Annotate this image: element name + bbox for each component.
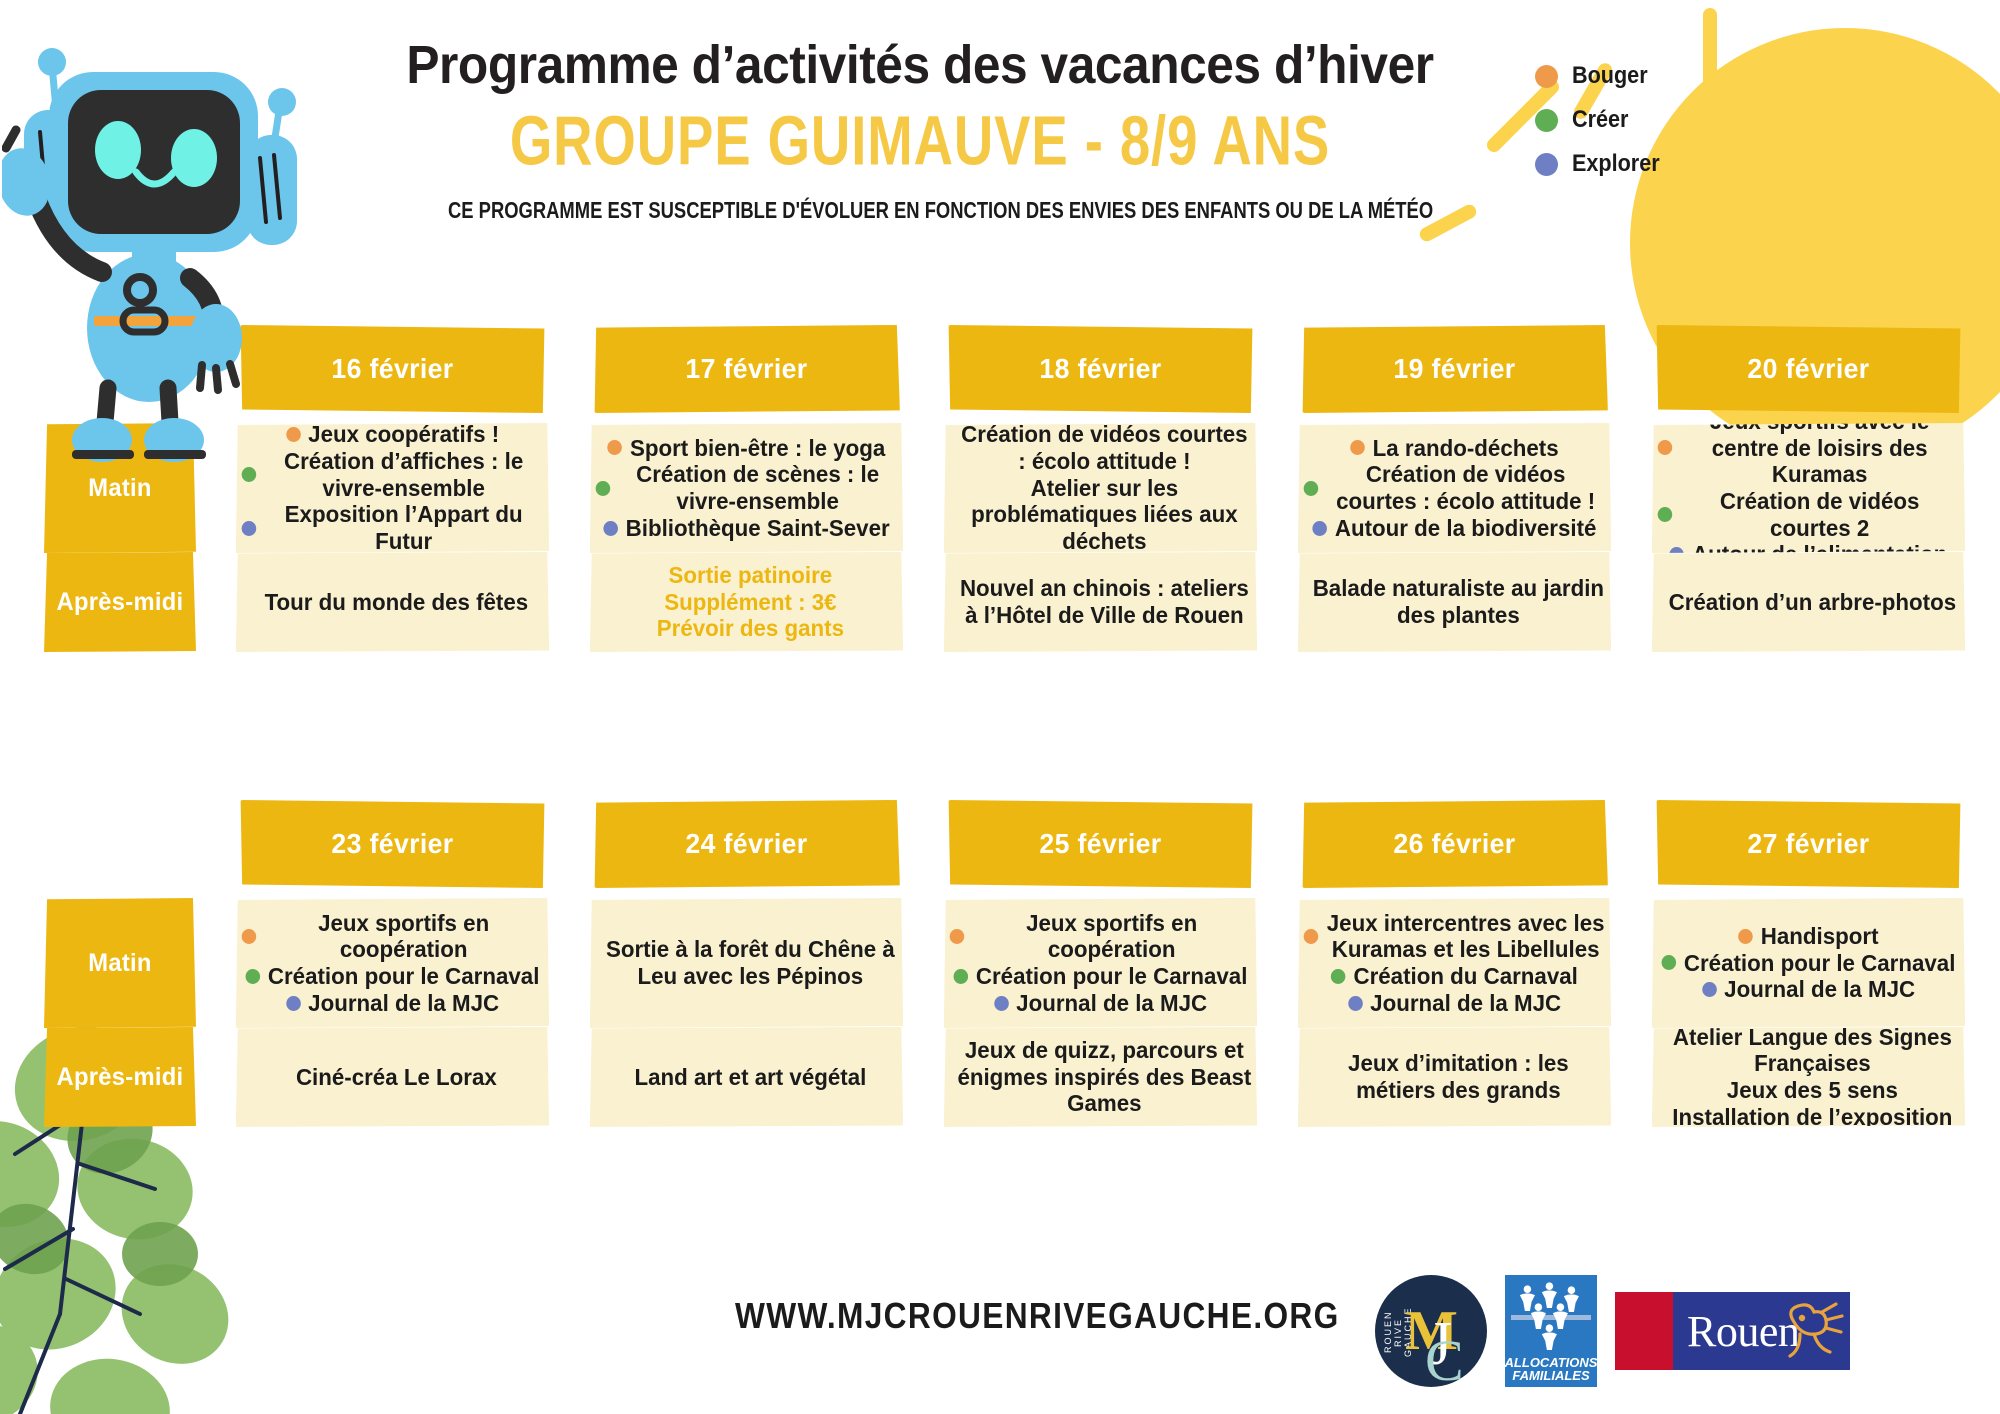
- schedule-cell-morning: Sortie à la forêt du Chêne à Leu avec le…: [590, 898, 903, 1028]
- activity-text: Jeux sportifs avec le centre de loisirs …: [1680, 408, 1959, 488]
- activity-text: Land art et art végétal: [634, 1064, 866, 1091]
- activity-bullet-explorer-icon: [286, 996, 301, 1011]
- date-header-chip: 17 février: [593, 325, 900, 413]
- activity-item: Journal de la MJC: [1658, 976, 1960, 1003]
- schedule-cell-morning: La rando-déchetsCréation de vidéos court…: [1298, 423, 1611, 553]
- activity-item: Création de vidéos courtes : écolo attit…: [1304, 461, 1606, 514]
- activity-item: Handisport: [1658, 923, 1960, 950]
- activity-text: Ciné-créa Le Lorax: [296, 1064, 497, 1091]
- rouen-logo-red-bar: [1615, 1292, 1673, 1370]
- schedule-cell-morning: Jeux sportifs avec le centre de loisirs …: [1652, 423, 1965, 553]
- activity-bullet-creer-icon: [1304, 481, 1319, 496]
- activity-bullet-bouger-icon: [950, 929, 965, 944]
- mjc-logo: ROUEN RIVE GAUCHE M J C: [1375, 1275, 1487, 1387]
- activity-text: Atelier sur les problématiques liées aux…: [957, 475, 1251, 555]
- legend-dot-icon: [1535, 109, 1558, 132]
- schedule-cell-afternoon: Jeux d’imitation : les métiers des grand…: [1298, 1027, 1611, 1127]
- activity-text: Exposition l’Appart du Futur: [264, 501, 543, 554]
- activity-text: Tour du monde des fêtes: [265, 589, 529, 616]
- activity-item: Journal de la MJC: [950, 990, 1252, 1017]
- activity-item: Création pour le Carnaval: [242, 963, 544, 990]
- activity-text: Création pour le Carnaval: [1684, 950, 1956, 977]
- activity-text: Journal de la MJC: [1724, 976, 1915, 1003]
- activity-item: Création pour le Carnaval: [950, 963, 1252, 990]
- activity-text: Journal de la MJC: [1370, 990, 1561, 1017]
- activity-text: Création pour le Carnaval: [976, 963, 1248, 990]
- activity-item: Balade naturaliste au jardin des plantes: [1304, 575, 1606, 628]
- schedule-week-2: 23 février24 février25 février26 février…: [40, 800, 1970, 1116]
- schedule-cell-morning: Sport bien-être : le yogaCréation de scè…: [590, 423, 903, 553]
- activity-bullet-explorer-icon: [242, 521, 257, 536]
- activity-item: Land art et art végétal: [596, 1064, 898, 1091]
- schedule-cell-morning: Jeux intercentres avec les Kuramas et le…: [1298, 898, 1611, 1028]
- sun-ray-icon: [1703, 8, 1717, 104]
- page-title: Programme d’activités des vacances d’hiv…: [377, 34, 1463, 96]
- legend-item-explorer: Explorer: [1535, 150, 1669, 178]
- activity-bullet-explorer-icon: [603, 521, 618, 536]
- activity-bullet-explorer-icon: [1702, 982, 1717, 997]
- schedule-cell-afternoon: Nouvel an chinois : ateliers à l’Hôtel d…: [944, 552, 1257, 652]
- activity-text: Installation de l’exposition: [1672, 1104, 1952, 1131]
- activity-text: Jeux sportifs en coopération: [264, 910, 543, 963]
- activity-item: Tour du monde des fêtes: [242, 589, 544, 616]
- schedule-cell-morning: Jeux sportifs en coopérationCréation pou…: [236, 898, 549, 1028]
- activity-item: Supplément : 3€: [596, 589, 898, 616]
- activity-text: Jeux d’imitation : les métiers des grand…: [1311, 1050, 1605, 1103]
- activity-item: Création de vidéos courtes : écolo attit…: [950, 421, 1252, 474]
- grid-corner-spacer: [40, 800, 200, 888]
- activity-item: Atelier sur les problématiques liées aux…: [950, 475, 1252, 555]
- activity-text: Journal de la MJC: [308, 990, 499, 1017]
- schedule-cell-afternoon: Atelier Langue des Signes FrançaisesJeux…: [1652, 1027, 1965, 1127]
- date-header-chip: 27 février: [1655, 800, 1962, 888]
- activity-text: Jeux intercentres avec les Kuramas et le…: [1326, 910, 1605, 963]
- page-subtitle: GROUPE GUIMAUVE - 8/9 ANS: [401, 102, 1439, 182]
- legend-item-label: Créer: [1572, 106, 1628, 134]
- schedule-cell-morning: Création de vidéos courtes : écolo attit…: [944, 423, 1257, 553]
- row-label-morning: Matin: [44, 898, 196, 1028]
- activity-item: Sortie à la forêt du Chêne à Leu avec le…: [596, 936, 898, 989]
- activity-bullet-explorer-icon: [994, 996, 1009, 1011]
- schedule-cell-morning: Jeux sportifs en coopérationCréation pou…: [944, 898, 1257, 1028]
- date-header-chip: 19 février: [1301, 325, 1608, 413]
- activity-item: Jeux des 5 sens: [1658, 1077, 1960, 1104]
- schedule-cell-afternoon: Land art et art végétal: [590, 1027, 903, 1127]
- activity-item: Jeux intercentres avec les Kuramas et le…: [1304, 910, 1606, 963]
- legend-item-label: Bouger: [1572, 62, 1648, 90]
- caf-logo-line-1: ALLOCATIONS: [1505, 1356, 1598, 1370]
- activity-text: Sortie patinoire: [669, 562, 833, 589]
- activity-bullet-bouger-icon: [1304, 929, 1319, 944]
- activity-item: Création de vidéos courtes 2: [1658, 488, 1960, 541]
- schedule-cell-afternoon: Balade naturaliste au jardin des plantes: [1298, 552, 1611, 652]
- legend-dot-icon: [1535, 153, 1558, 176]
- activity-text: La rando-déchets: [1373, 435, 1559, 462]
- caf-logo-people-icon: [1505, 1281, 1597, 1351]
- activity-bullet-creer-icon: [596, 481, 611, 496]
- website-url[interactable]: WWW.MJCROUENRIVEGAUCHE.ORG: [735, 1295, 1340, 1337]
- caf-logo-line-2: FAMILIALES: [1512, 1369, 1589, 1383]
- activity-bullet-creer-icon: [1658, 507, 1673, 522]
- row-label-afternoon: Après-midi: [44, 552, 196, 652]
- date-header-chip: 18 février: [947, 325, 1254, 413]
- activity-item: Jeux d’imitation : les métiers des grand…: [1304, 1050, 1606, 1103]
- date-header-chip: 20 février: [1655, 325, 1962, 413]
- legend-item-label: Explorer: [1572, 150, 1660, 178]
- activity-text: Sortie à la forêt du Chêne à Leu avec le…: [603, 936, 897, 989]
- activity-text: Handisport: [1761, 923, 1879, 950]
- activity-bullet-explorer-icon: [1313, 521, 1328, 536]
- activity-item: Création pour le Carnaval: [1658, 950, 1960, 977]
- activity-text: Création de vidéos courtes : écolo attit…: [957, 421, 1251, 474]
- activity-text: Jeux de quizz, parcours et énigmes inspi…: [957, 1037, 1251, 1117]
- activity-bullet-creer-icon: [954, 969, 969, 984]
- activity-item: Jeux sportifs avec le centre de loisirs …: [1658, 408, 1960, 488]
- date-header-chip: 25 février: [947, 800, 1254, 888]
- activity-text: Création de vidéos courtes 2: [1680, 488, 1959, 541]
- rouen-logo-lamb-icon: [1774, 1300, 1844, 1362]
- rouen-logo: Rouen: [1615, 1292, 1850, 1370]
- legend-item-bouger: Bouger: [1535, 62, 1669, 90]
- schedule-cell-afternoon: Sortie patinoireSupplément : 3€Prévoir d…: [590, 552, 903, 652]
- activity-text: Supplément : 3€: [664, 589, 836, 616]
- activity-item: Création d’un arbre-photos: [1658, 589, 1960, 616]
- activity-bullet-explorer-icon: [1348, 996, 1363, 1011]
- date-header-chip: 24 février: [593, 800, 900, 888]
- activity-text: Nouvel an chinois : ateliers à l’Hôtel d…: [957, 575, 1251, 628]
- activity-item: Création du Carnaval: [1304, 963, 1606, 990]
- row-label-afternoon: Après-midi: [44, 1027, 196, 1127]
- poster-header: Programme d’activités des vacances d’hiv…: [330, 34, 1510, 224]
- activity-item: Jeux sportifs en coopération: [950, 910, 1252, 963]
- legend-item-créer: Créer: [1535, 106, 1669, 134]
- activity-text: Journal de la MJC: [1016, 990, 1207, 1017]
- activity-item: Journal de la MJC: [242, 990, 544, 1017]
- activity-item: Autour de la biodiversité: [1304, 515, 1606, 542]
- activity-item: Atelier Langue des Signes Françaises: [1658, 1024, 1960, 1077]
- activity-bullet-bouger-icon: [242, 929, 257, 944]
- activity-text: Création d’un arbre-photos: [1669, 589, 1957, 616]
- activity-text: Balade naturaliste au jardin des plantes: [1311, 575, 1605, 628]
- activity-item: Exposition l’Appart du Futur: [242, 501, 544, 554]
- activity-bullet-creer-icon: [246, 969, 261, 984]
- partner-logos: ROUEN RIVE GAUCHE M J C ALLOCATIONS FAMI…: [1375, 1275, 1850, 1387]
- activity-text: Autour de la biodiversité: [1335, 515, 1597, 542]
- activity-item: Journal de la MJC: [1304, 990, 1606, 1017]
- date-header-chip: 23 février: [239, 800, 546, 888]
- robot-mascot-icon: [2, 10, 302, 480]
- activity-text: Sport bien-être : le yoga: [630, 435, 885, 462]
- category-legend: BougerCréerExplorer: [1535, 62, 1669, 194]
- activity-bullet-bouger-icon: [1658, 440, 1673, 455]
- activity-bullet-bouger-icon: [608, 440, 623, 455]
- activity-item: La rando-déchets: [1304, 435, 1606, 462]
- caf-logo: ALLOCATIONS FAMILIALES: [1505, 1275, 1597, 1387]
- activity-item: Jeux de quizz, parcours et énigmes inspi…: [950, 1037, 1252, 1117]
- schedule-cell-afternoon: Jeux de quizz, parcours et énigmes inspi…: [944, 1027, 1257, 1127]
- legend-dot-icon: [1535, 65, 1558, 88]
- activity-text: Création de scènes : le vivre-ensemble: [618, 461, 897, 514]
- mjc-logo-ring-text: ROUEN RIVE GAUCHE: [1383, 1301, 1405, 1363]
- activity-text: Prévoir des gants: [657, 615, 844, 642]
- activity-item: Nouvel an chinois : ateliers à l’Hôtel d…: [950, 575, 1252, 628]
- page-disclaimer: CE PROGRAMME EST SUSCEPTIBLE D'ÉVOLUER E…: [448, 197, 1392, 224]
- activity-item: Création de scènes : le vivre-ensemble: [596, 461, 898, 514]
- activity-item: Bibliothèque Saint-Sever: [596, 515, 898, 542]
- activity-text: Création d’affiches : le vivre-ensemble: [264, 448, 543, 501]
- activity-text: Jeux sportifs en coopération: [972, 910, 1251, 963]
- activity-item: Sortie patinoire: [596, 562, 898, 589]
- mjc-logo-letter-c: C: [1425, 1327, 1464, 1394]
- activity-item: Sport bien-être : le yoga: [596, 435, 898, 462]
- schedule-cell-morning: HandisportCréation pour le CarnavalJourn…: [1652, 898, 1965, 1028]
- activity-item: Jeux sportifs en coopération: [242, 910, 544, 963]
- activity-bullet-creer-icon: [1331, 969, 1346, 984]
- activity-bullet-bouger-icon: [1738, 929, 1753, 944]
- activity-bullet-creer-icon: [1662, 955, 1677, 970]
- activity-text: Création du Carnaval: [1353, 963, 1577, 990]
- activity-text: Atelier Langue des Signes Françaises: [1665, 1024, 1959, 1077]
- activity-text: Création de vidéos courtes : écolo attit…: [1326, 461, 1605, 514]
- activity-item: Prévoir des gants: [596, 615, 898, 642]
- date-header-chip: 26 février: [1301, 800, 1608, 888]
- activity-text: Bibliothèque Saint-Sever: [626, 515, 890, 542]
- activity-bullet-bouger-icon: [1350, 440, 1365, 455]
- activity-text: Création pour le Carnaval: [268, 963, 540, 990]
- schedule-cell-afternoon: Tour du monde des fêtes: [236, 552, 549, 652]
- schedule-cell-afternoon: Création d’un arbre-photos: [1652, 552, 1965, 652]
- activity-item: Ciné-créa Le Lorax: [242, 1064, 544, 1091]
- poster-root: Programme d’activités des vacances d’hiv…: [0, 0, 2000, 1414]
- schedule-week-1: 16 février17 février18 février19 février…: [40, 325, 1970, 641]
- activity-text: Jeux coopératifs !: [308, 421, 499, 448]
- activity-text: Jeux des 5 sens: [1727, 1077, 1898, 1104]
- schedule-cell-afternoon: Ciné-créa Le Lorax: [236, 1027, 549, 1127]
- activity-item: Installation de l’exposition: [1658, 1104, 1960, 1131]
- rouen-logo-blue-panel: Rouen: [1673, 1292, 1850, 1370]
